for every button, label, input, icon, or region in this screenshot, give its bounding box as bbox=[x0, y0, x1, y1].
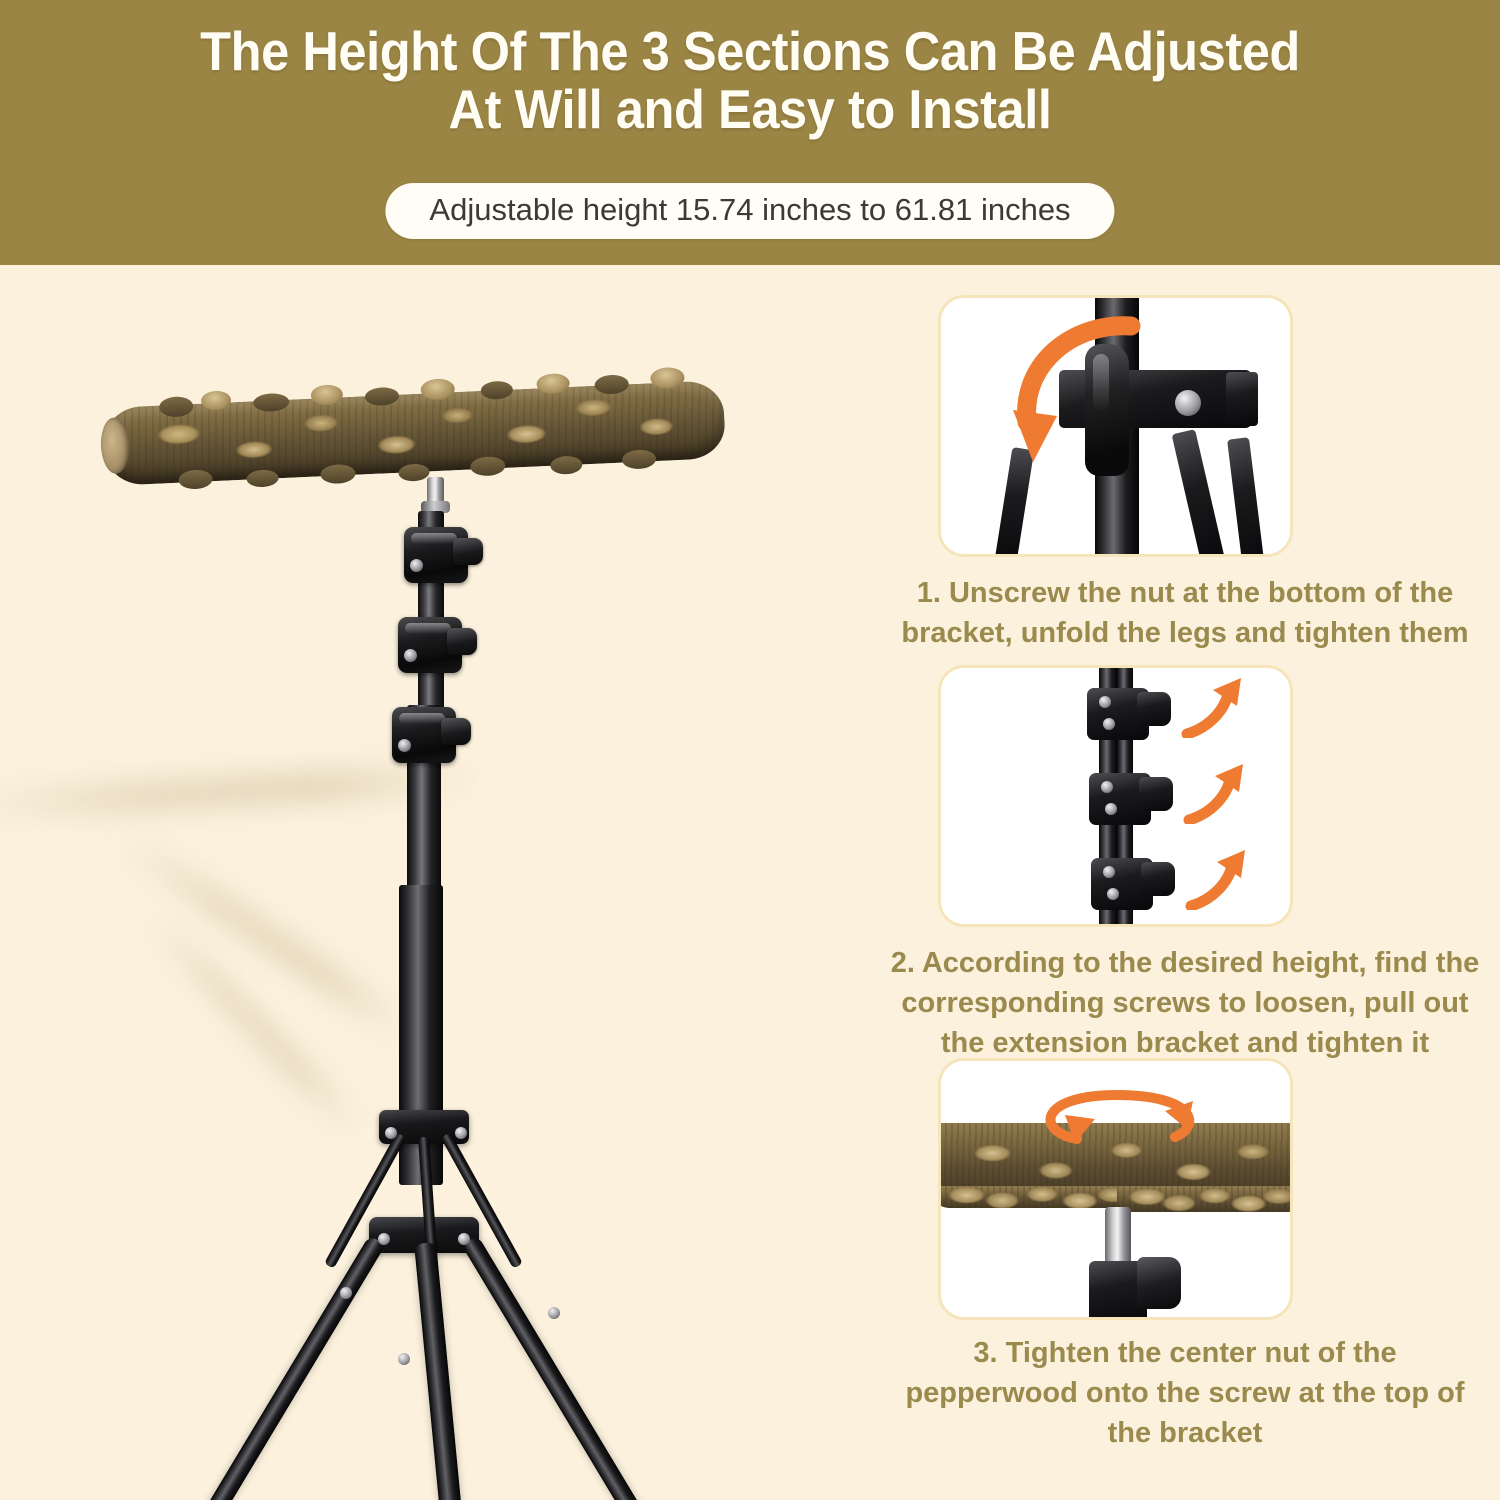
clamp-screw bbox=[398, 739, 411, 752]
step-1-text: 1. Unscrew the nut at the bottom of the … bbox=[886, 573, 1484, 653]
adjust-knob-3 bbox=[1141, 862, 1175, 896]
center-nut-knob bbox=[1137, 1257, 1181, 1309]
perch-underside bbox=[1117, 1186, 1293, 1212]
page-title-line-1: The Height Of The 3 Sections Can Be Adju… bbox=[60, 22, 1440, 80]
leg-rivet bbox=[548, 1307, 560, 1319]
clamp-screw bbox=[1099, 696, 1111, 708]
page-title-line-2: At Will and Easy to Install bbox=[60, 80, 1440, 138]
perch-nub bbox=[470, 456, 506, 477]
tripod-leg-left bbox=[199, 1235, 385, 1500]
clamp-knob-2 bbox=[398, 617, 462, 673]
perch-nub bbox=[398, 463, 430, 481]
clamp-highlight bbox=[411, 533, 457, 544]
hub-rivet bbox=[455, 1127, 467, 1139]
adjustable-height-badge: Adjustable height 15.74 inches to 61.81 … bbox=[385, 183, 1114, 239]
step-3-image-card bbox=[938, 1058, 1293, 1320]
step-2-image-card bbox=[938, 665, 1293, 927]
product-hero-image bbox=[0, 265, 870, 1500]
hub-rivet bbox=[458, 1233, 470, 1245]
adjust-knob-2 bbox=[1139, 777, 1173, 811]
perch-nub bbox=[550, 455, 583, 474]
hub-rivet bbox=[385, 1127, 397, 1139]
bracket-rivet bbox=[1175, 390, 1201, 416]
perch-underside bbox=[938, 1186, 1143, 1208]
perch-nub bbox=[622, 449, 657, 470]
clamp-knob-1 bbox=[404, 527, 468, 583]
loosen-arrow-icon-1 bbox=[1177, 676, 1245, 738]
clamp-lever bbox=[453, 538, 483, 565]
adjust-knob-1 bbox=[1137, 692, 1171, 726]
wooden-perch bbox=[103, 366, 728, 514]
clamp-screw bbox=[404, 649, 417, 662]
perch-nub bbox=[178, 469, 213, 490]
folded-leg-right-2 bbox=[1227, 437, 1265, 557]
hub-rivet bbox=[378, 1233, 390, 1245]
leg-shadow-2 bbox=[142, 908, 366, 1139]
clamp-highlight bbox=[405, 623, 451, 634]
content-area: 1. Unscrew the nut at the bottom of the … bbox=[0, 265, 1500, 1500]
step-2-text: 2. According to the desired height, find… bbox=[886, 943, 1484, 1063]
clamp-screw bbox=[410, 559, 423, 572]
loosen-arrow-icon-3 bbox=[1181, 848, 1249, 910]
clamp-highlight bbox=[399, 713, 445, 724]
leg-shadow-1 bbox=[113, 827, 418, 1044]
mount-screw-shaft bbox=[1105, 1207, 1131, 1269]
header-banner: The Height Of The 3 Sections Can Be Adju… bbox=[0, 0, 1500, 265]
page-title: The Height Of The 3 Sections Can Be Adju… bbox=[60, 22, 1440, 138]
clamp-screw bbox=[1103, 866, 1115, 878]
leg-rivet bbox=[398, 1353, 410, 1365]
leg-rivet bbox=[340, 1287, 352, 1299]
instruction-steps: 1. Unscrew the nut at the bottom of the … bbox=[870, 265, 1500, 1500]
clamp-screw bbox=[1105, 803, 1117, 815]
clamp-screw bbox=[1103, 718, 1115, 730]
rotate-arrow-icon bbox=[1025, 1085, 1215, 1149]
perch-nub bbox=[320, 464, 356, 485]
clamp-lever bbox=[447, 628, 477, 655]
clamp-screw bbox=[1101, 781, 1113, 793]
clamp-knob-3 bbox=[392, 707, 456, 763]
step-1-image-card bbox=[938, 295, 1293, 557]
unscrew-arrow-icon bbox=[1013, 312, 1143, 492]
perch-nub bbox=[246, 469, 279, 487]
clamp-screw bbox=[1107, 888, 1119, 900]
step-3-text: 3. Tighten the center nut of the pepperw… bbox=[886, 1333, 1484, 1453]
clamp-lever bbox=[441, 718, 471, 745]
tripod-leg-center bbox=[414, 1242, 481, 1500]
tripod-leg-right bbox=[461, 1235, 647, 1500]
folded-leg-right-1 bbox=[1172, 429, 1227, 557]
bracket-tab bbox=[1226, 372, 1258, 426]
loosen-arrow-icon-2 bbox=[1179, 762, 1247, 824]
